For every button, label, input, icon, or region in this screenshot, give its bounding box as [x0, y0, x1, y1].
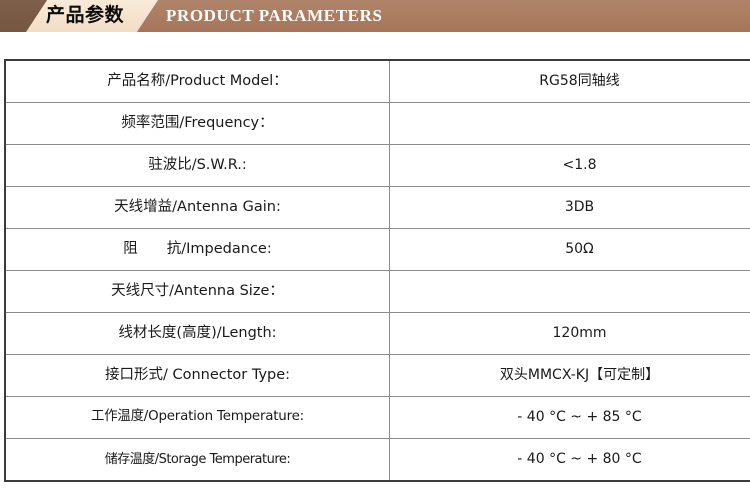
spec-value: 50Ω: [390, 229, 750, 271]
spec-table-container: 产品名称/Product Model： RG58同轴线 频率范围/Frequen…: [4, 59, 746, 482]
spec-label: 工作温度/Operation Temperature:: [5, 397, 390, 439]
spec-label: 线材长度(高度)/Length:: [5, 313, 390, 355]
banner-title-chinese: 产品参数: [46, 0, 124, 32]
spec-label: 天线增益/Antenna Gain:: [5, 187, 390, 229]
table-row: 阻 抗/Impedance: 50Ω: [5, 229, 750, 271]
spec-value: <1.8: [390, 145, 750, 187]
spec-label: 阻 抗/Impedance:: [5, 229, 390, 271]
table-row: 线材长度(高度)/Length: 120mm: [5, 313, 750, 355]
spec-value: 3DB: [390, 187, 750, 229]
table-row: 天线尺寸/Antenna Size：: [5, 271, 750, 313]
table-row: 产品名称/Product Model： RG58同轴线: [5, 60, 750, 103]
spec-label: 天线尺寸/Antenna Size：: [5, 271, 390, 313]
product-parameters-banner: 产品参数 PRODUCT PARAMETERS: [0, 0, 750, 32]
table-row: 接口形式/ Connector Type: 双头MMCX-KJ【可定制】: [5, 355, 750, 397]
table-row: 天线增益/Antenna Gain: 3DB: [5, 187, 750, 229]
spec-label: 接口形式/ Connector Type:: [5, 355, 390, 397]
table-row: 频率范围/Frequency：: [5, 103, 750, 145]
table-row: 储存温度/Storage Temperature: - 40 °C ~ + 80…: [5, 439, 750, 482]
spec-table-body: 产品名称/Product Model： RG58同轴线 频率范围/Frequen…: [5, 60, 750, 481]
banner-title-english: PRODUCT PARAMETERS: [166, 0, 383, 32]
spec-label: 产品名称/Product Model：: [5, 60, 390, 103]
spec-value: 120mm: [390, 313, 750, 355]
spec-label: 频率范围/Frequency：: [5, 103, 390, 145]
spec-value: 双头MMCX-KJ【可定制】: [390, 355, 750, 397]
spec-label: 储存温度/Storage Temperature:: [5, 439, 390, 482]
table-row: 驻波比/S.W.R.: <1.8: [5, 145, 750, 187]
spec-value: [390, 103, 750, 145]
spec-value: - 40 °C ~ + 85 °C: [390, 397, 750, 439]
spec-value: RG58同轴线: [390, 60, 750, 103]
spec-value: [390, 271, 750, 313]
product-parameters-table: 产品名称/Product Model： RG58同轴线 频率范围/Frequen…: [4, 59, 750, 482]
table-row: 工作温度/Operation Temperature: - 40 °C ~ + …: [5, 397, 750, 439]
spec-value: - 40 °C ~ + 80 °C: [390, 439, 750, 482]
spec-label: 驻波比/S.W.R.:: [5, 145, 390, 187]
